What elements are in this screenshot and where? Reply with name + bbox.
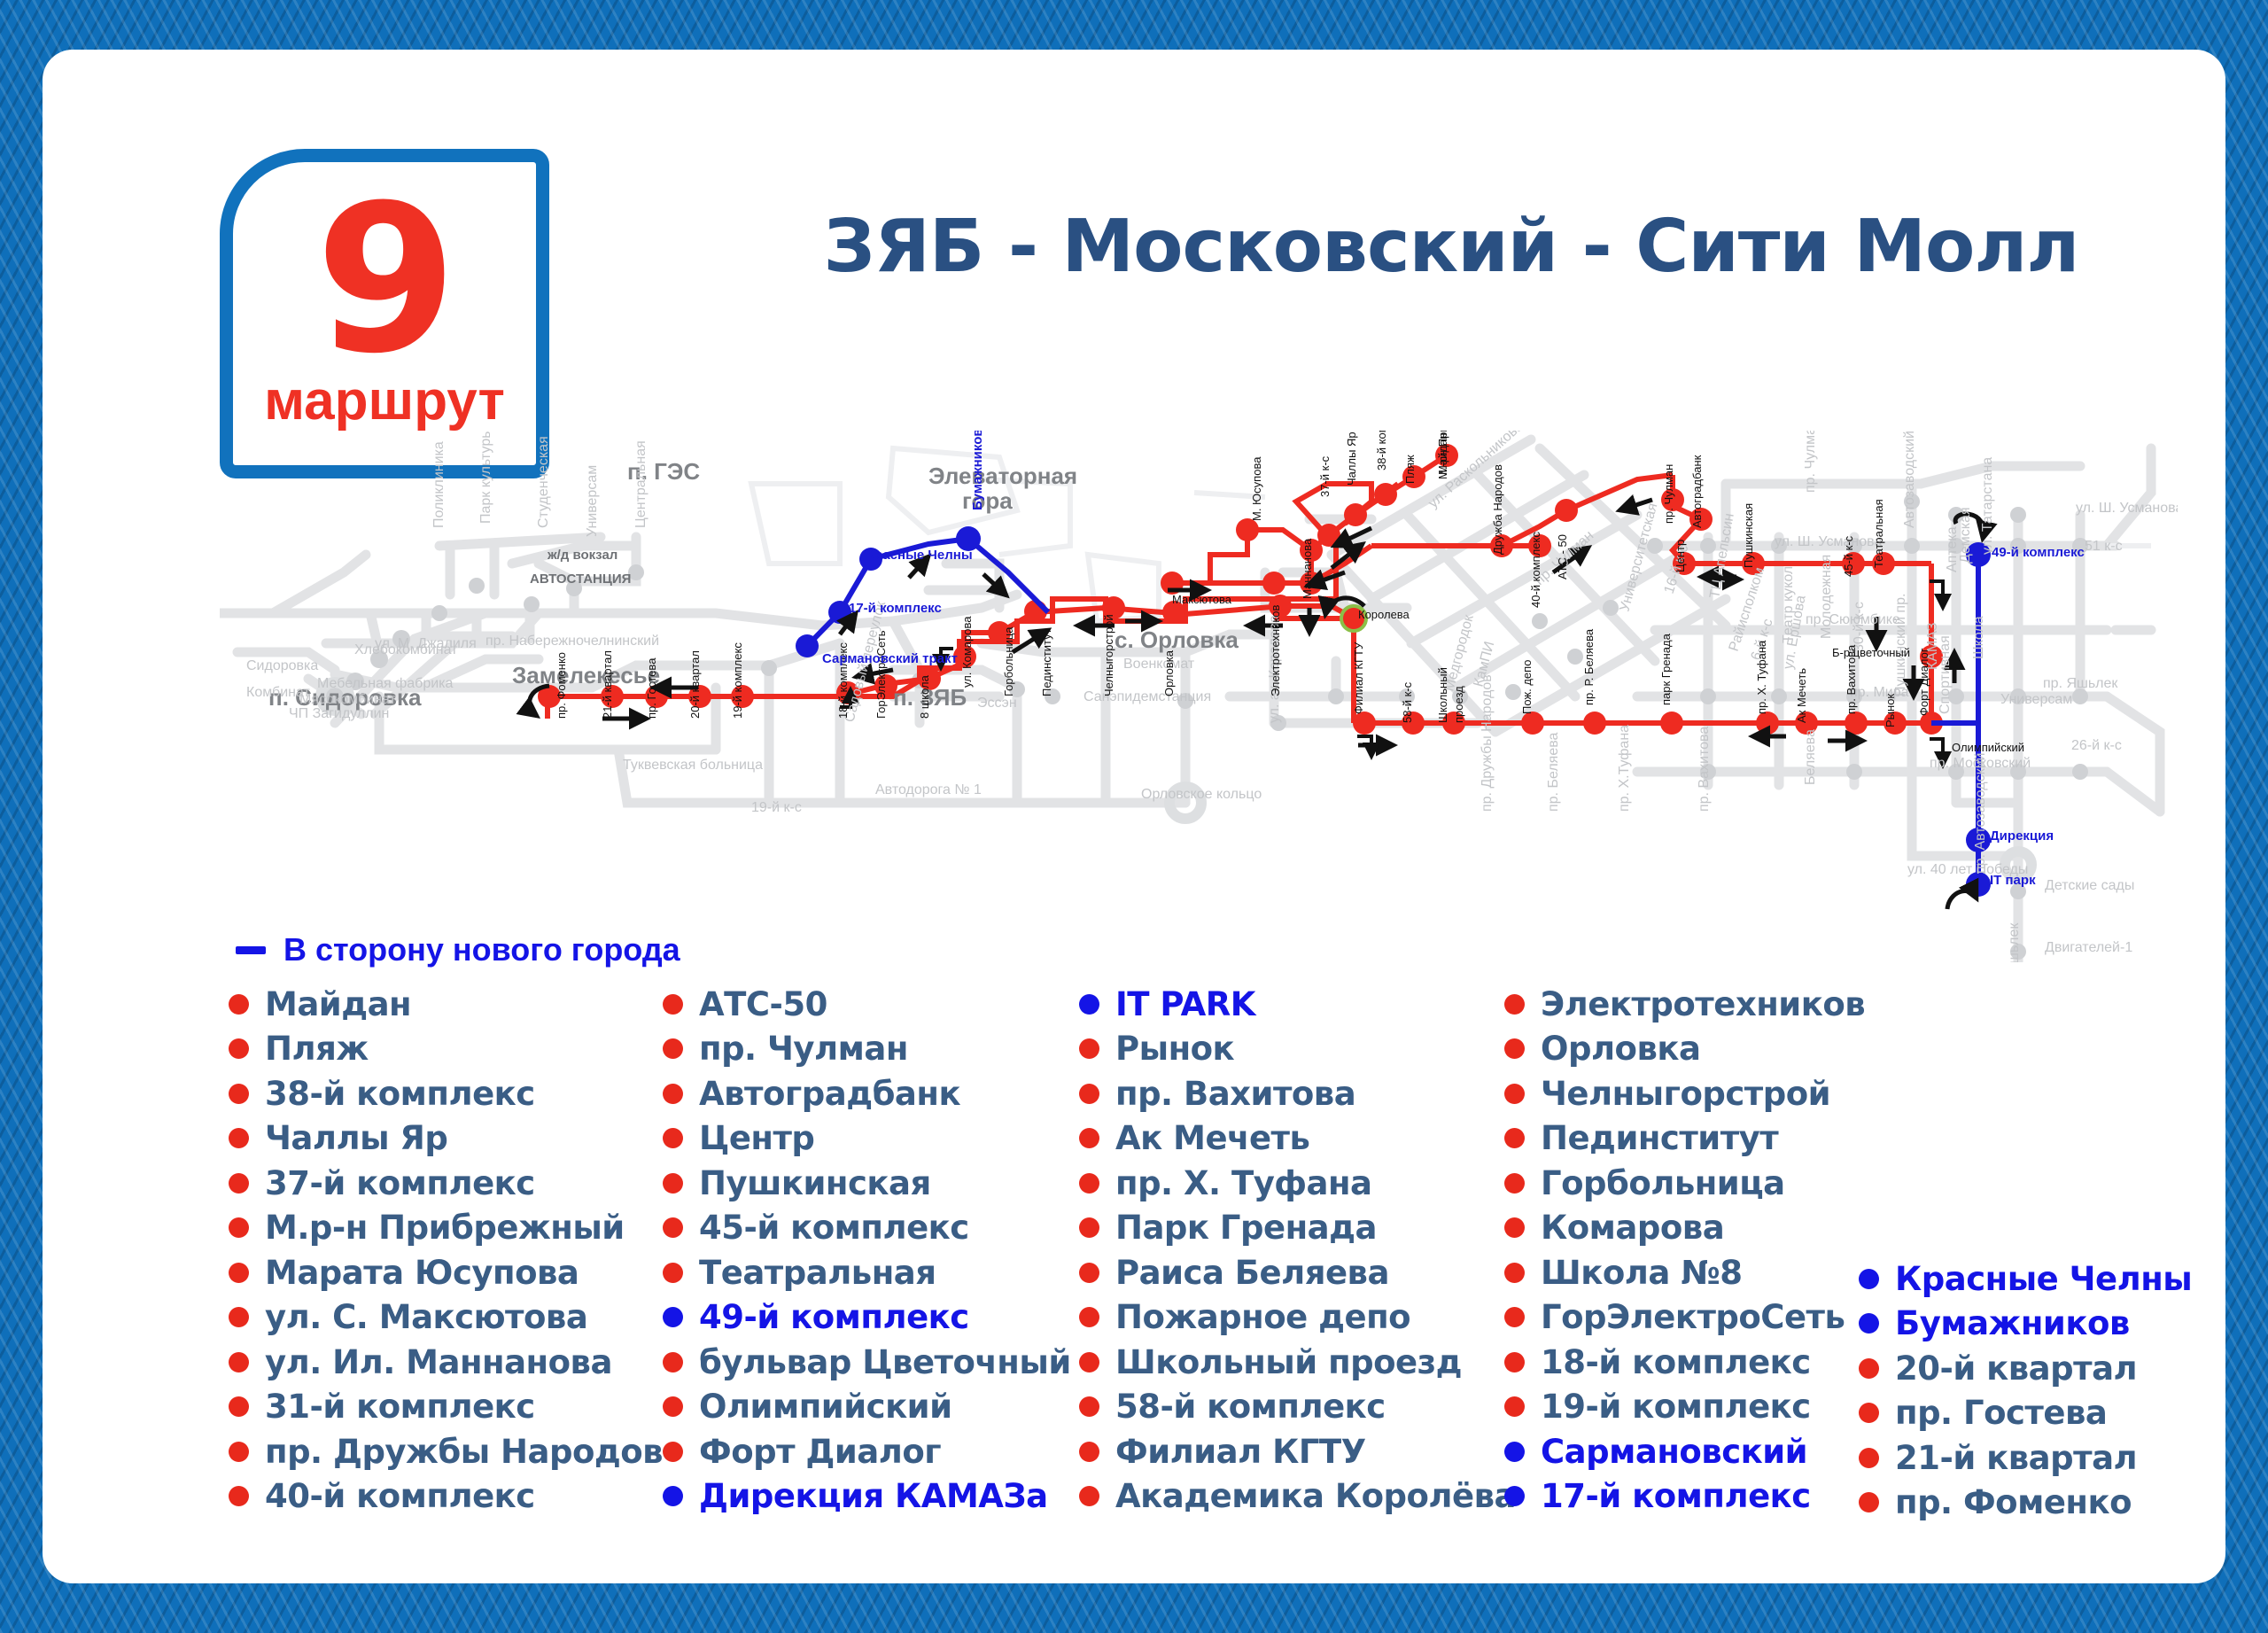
stop-dot-icon <box>663 1486 683 1506</box>
grey_labels: Молодежная <box>1819 555 1834 639</box>
stop-label: Школьный проезд <box>1115 1343 1462 1381</box>
list-item[interactable]: АТС-50 <box>663 982 1079 1027</box>
stop-column-2: АТС-50пр. ЧулманАвтоградбанкЦентрПушкинс… <box>663 982 1079 1525</box>
grey_labels: Пушкинский пр. <box>1893 594 1908 696</box>
grey_labels: пр. Яшьлек <box>2043 676 2118 691</box>
red_stops: 38-й комплекс <box>1375 431 1388 470</box>
list-item[interactable]: Бумажников <box>1859 1302 2204 1347</box>
list-item[interactable]: пр. Гостева <box>1859 1391 2204 1436</box>
route-number: 9 <box>315 195 454 366</box>
stop-dot-icon <box>229 1173 249 1194</box>
map-labels: п. ГЭСп. СидоровкаЗамелекесьеп. ЗЯБЭлева… <box>246 431 2178 962</box>
stop-label: Академика Королёва <box>1115 1477 1516 1515</box>
list-item[interactable]: пр. Фоменко <box>1859 1481 2204 1526</box>
grey_labels: Сидоровка <box>246 658 318 673</box>
list-item[interactable]: Филиал КГТУ <box>1079 1429 1504 1474</box>
grey_labels: Орловское кольцо <box>1141 787 1262 802</box>
list-item[interactable]: Комарова <box>1504 1206 1859 1251</box>
stop-column-4: ЭлектротехниковОрловкаЧелныгорстройПедин… <box>1504 982 1859 1525</box>
list-item[interactable]: Майдан <box>229 982 663 1027</box>
stop-dot-icon <box>229 1352 249 1372</box>
red_stops: пр. Р. Беляева <box>1582 628 1596 705</box>
grey_labels: Эссэн <box>977 696 1017 711</box>
grey_labels: Центральная <box>633 440 649 528</box>
stop-dot-icon <box>1504 1352 1525 1372</box>
grey_labels: ул. Татарстана <box>1980 457 1995 555</box>
red_stops: Чаллы Яр <box>1345 432 1358 486</box>
list-item[interactable]: Электротехников <box>1504 982 1859 1027</box>
grey_labels: Туквевская больница <box>623 758 763 773</box>
stop-label: Школа №8 <box>1541 1254 1742 1292</box>
grey_labels: Автозаводский пр. <box>1902 431 1917 528</box>
list-item[interactable]: Горбольница <box>1504 1161 1859 1206</box>
list-item[interactable]: 31-й комплекс <box>229 1385 663 1430</box>
red_stops: Орловка <box>1162 649 1176 696</box>
stop-dot-icon <box>229 1128 249 1148</box>
stop-label: Ак Мечеть <box>1115 1119 1309 1157</box>
red_stops: ул. Комарова <box>960 616 974 688</box>
red_stops: Маннанова <box>1301 538 1314 599</box>
grey_labels: Мясокомбинат <box>299 692 396 707</box>
stop-dot-icon <box>1504 1128 1525 1148</box>
route-map: п. ГЭСп. СидоровкаЗамелекесьеп. ЗЯБЭлева… <box>220 431 2178 962</box>
stop-label: Пляж <box>265 1030 369 1068</box>
stop-label: 17-й комплекс <box>1541 1477 1811 1515</box>
list-item[interactable]: пр. Вахитова <box>1079 1071 1504 1116</box>
grey_labels: Студенческая <box>536 436 551 528</box>
red_stops: 21-й квартал <box>601 650 614 719</box>
red_stops: Максютова <box>1172 593 1232 606</box>
stop-label: Пушкинская <box>699 1164 931 1202</box>
stop-dot-icon <box>1079 1442 1099 1462</box>
stop-label: бульвар Цветочный <box>699 1343 1071 1381</box>
grey_labels: Хлебокомбинат <box>354 642 458 657</box>
grey_labels: ул. Ш. Усманова <box>2076 501 2178 516</box>
grey_labels: пр. Набережночелнинский <box>485 634 659 649</box>
list-item[interactable]: М.р-н Прибрежный <box>229 1206 663 1251</box>
stop-label: 19-й комплекс <box>1541 1388 1811 1426</box>
stop-dot-icon <box>663 1352 683 1372</box>
list-item[interactable]: пр. Чулман <box>663 1027 1079 1072</box>
stop-label: 45-й комплекс <box>699 1209 969 1247</box>
stop-label: ул. С. Максютова <box>265 1298 587 1336</box>
stop-label: Майдан <box>265 985 411 1023</box>
list-item[interactable]: Пляж <box>229 1027 663 1072</box>
blue_stops: IT парк <box>1990 873 2036 888</box>
list-item[interactable]: 58-й комплекс <box>1079 1385 1504 1430</box>
stop-label: IT PARK <box>1115 985 1255 1023</box>
red_stops: пр. Фоменко <box>555 652 568 719</box>
stop-list: МайданПляж38-й комплексЧаллы Яр37-й комп… <box>229 982 2204 1525</box>
grey_labels: ж/д вокзал <box>547 548 617 563</box>
grey_labels: пр. Вахитова <box>1697 727 1712 812</box>
stop-dot-icon <box>1859 1269 1879 1289</box>
list-item[interactable]: 49-й комплекс <box>663 1295 1079 1341</box>
list-item[interactable]: пр. Дружбы Народов <box>229 1429 663 1474</box>
red_stops: М.-рн Прибрежный <box>1436 431 1449 479</box>
red_stops: Пединститут <box>1040 628 1053 696</box>
list-item[interactable]: 21-й квартал <box>1859 1435 2204 1481</box>
list-item[interactable]: Академика Королёва <box>1079 1474 1504 1520</box>
grey_labels: Универсам <box>2000 692 2072 707</box>
blue_stops: Сармановский тракт <box>822 651 958 666</box>
stop-dot-icon <box>663 1084 683 1104</box>
stop-dot-icon <box>1079 994 1099 1015</box>
grey_labels: Театр кукол <box>1781 566 1796 643</box>
district_labels: Замелекесье <box>512 662 660 688</box>
grey_labels: 26-й к-с <box>2071 738 2122 753</box>
red_stops: Королева <box>1358 608 1410 621</box>
red_stops: Электротехников <box>1269 605 1282 696</box>
stop-label: 37-й комплекс <box>265 1164 535 1202</box>
grey_labels: пр. Чулман <box>1803 431 1818 493</box>
red_stops: парк Гренада <box>1659 633 1673 705</box>
stop-label: Электротехников <box>1541 985 1865 1023</box>
stop-label: Раиса Беляева <box>1115 1254 1389 1292</box>
list-item[interactable]: 37-й комплекс <box>229 1161 663 1206</box>
red_stops: Филиал КГТУ <box>1352 642 1365 714</box>
grey_labels: пр. Автозаводский <box>1973 753 1988 874</box>
grey_labels: Мебельная фабрика <box>317 676 454 691</box>
red_stops: Горбольница <box>1002 626 1015 696</box>
stop-dot-icon <box>1859 1403 1879 1423</box>
red_stops: 8 школа <box>918 674 931 719</box>
stop-dot-icon <box>1079 1173 1099 1194</box>
list-item[interactable]: Олимпийский <box>663 1385 1079 1430</box>
list-item[interactable]: бульвар Цветочный <box>663 1340 1079 1385</box>
stop-label: пр. Фоменко <box>1895 1483 2132 1521</box>
red_stops: 19-й комплекс <box>731 642 744 719</box>
grey_labels: пр. Яшьлек <box>2007 922 2022 962</box>
stop-label: Горбольница <box>1541 1164 1785 1202</box>
red_stops: М. Юсупова <box>1250 456 1263 521</box>
list-item[interactable]: Дирекция КАМАЗа <box>663 1474 1079 1520</box>
stop-dot-icon <box>1504 1442 1525 1462</box>
stop-dot-icon <box>1079 1084 1099 1104</box>
red_stops: пр. Гостева <box>645 657 658 719</box>
grey_labels: Школа <box>1971 616 1986 659</box>
stop-dot-icon <box>663 1217 683 1238</box>
list-item[interactable]: Автоградбанк <box>663 1071 1079 1116</box>
list-item[interactable]: 18-й комплекс <box>1504 1340 1859 1385</box>
stop-dot-icon <box>663 1038 683 1059</box>
red_stops: Школьный <box>1436 667 1449 723</box>
list-item[interactable]: Пожарное депо <box>1079 1295 1504 1341</box>
blue-dash-icon <box>236 946 266 954</box>
blue_stops: Бумажников <box>970 431 985 510</box>
legend-direction: В сторону нового города <box>236 931 680 968</box>
grey_labels: Детские сады <box>2045 878 2134 893</box>
stop-dot-icon <box>663 1442 683 1462</box>
stop-label: Пожарное депо <box>1115 1298 1410 1336</box>
red_stops: Олимпийский <box>1952 741 2024 754</box>
grey_labels: Военкомат <box>1123 657 1195 672</box>
grey_labels: пр. Беляева <box>1546 732 1561 812</box>
list-item[interactable]: ГорЭлектроСеть <box>1504 1295 1859 1341</box>
stop-label: Чаллы Яр <box>265 1119 447 1157</box>
stop-dot-icon <box>1504 1084 1525 1104</box>
stop-label: Орловка <box>1541 1030 1700 1068</box>
district_labels: с. Орловка <box>1115 626 1239 653</box>
stop-column-3: IT PARKРынокпр. ВахитоваАк Мечетьпр. Х. … <box>1079 982 1504 1525</box>
grey_labels: пр. Дружбы Народов <box>1480 674 1495 812</box>
list-item[interactable]: Сармановский <box>1504 1429 1859 1474</box>
list-item[interactable]: Форт Диалог <box>663 1429 1079 1474</box>
stop-dot-icon <box>663 1307 683 1327</box>
stop-label: пр. Гостева <box>1895 1394 2107 1432</box>
red_stops: 45-й к-с <box>1842 535 1855 577</box>
list-item[interactable]: Театральная <box>663 1250 1079 1295</box>
stop-dot-icon <box>1504 1396 1525 1417</box>
stop-dot-icon <box>229 1486 249 1506</box>
stop-column-5: Красные ЧелныБумажников20-й кварталпр. Г… <box>1859 982 2204 1525</box>
stop-dot-icon <box>229 1263 249 1283</box>
grey_labels: Беляева <box>1803 729 1818 785</box>
grey_labels: Парк культуры <box>478 431 493 524</box>
list-item[interactable]: Красные Челны <box>1859 1256 2204 1302</box>
stop-dot-icon <box>663 1128 683 1148</box>
stop-label: пр. Чулман <box>699 1030 908 1068</box>
list-item[interactable]: Раиса Беляева <box>1079 1250 1504 1295</box>
stop-label: Красные Челны <box>1895 1260 2192 1298</box>
stop-column-1: МайданПляж38-й комплексЧаллы Яр37-й комп… <box>229 982 663 1525</box>
red_stops: пр. Х. Туфана <box>1755 640 1768 714</box>
red_stops: 20-й квартал <box>688 650 702 719</box>
stop-dot-icon <box>1504 1307 1525 1327</box>
list-item[interactable]: ул. С. Максютова <box>229 1295 663 1341</box>
stop-label: 40-й комплекс <box>265 1477 535 1515</box>
red_stops: Центр <box>1674 540 1687 572</box>
stop-label: пр. Дружбы Народов <box>265 1433 663 1471</box>
page-title: ЗЯБ - Московский - Сити Молл <box>698 205 2204 289</box>
list-item[interactable]: Парк Гренада <box>1079 1206 1504 1251</box>
poster-card: 9 маршрут ЗЯБ - Московский - Сити Молл <box>43 50 2225 1583</box>
grey_labels: Автодорога № 1 <box>875 782 982 797</box>
stop-dot-icon <box>1079 1038 1099 1059</box>
stop-dot-icon <box>229 1396 249 1417</box>
stop-dot-icon <box>1504 1217 1525 1238</box>
stop-dot-icon <box>1504 1038 1525 1059</box>
stop-dot-icon <box>1504 994 1525 1015</box>
red_stops: Дружба Народов <box>1491 464 1504 555</box>
stop-dot-icon <box>663 1263 683 1283</box>
stop-label: 58-й комплекс <box>1115 1388 1386 1426</box>
red_stops: Пушкинская <box>1742 503 1755 568</box>
route-word: маршрут <box>264 369 505 432</box>
red_stops: Пляж <box>1403 455 1417 484</box>
stop-dot-icon <box>1859 1358 1879 1379</box>
stop-label: Центр <box>699 1119 814 1157</box>
stop-label: АТС-50 <box>699 985 827 1023</box>
legend-direction-label: В сторону нового города <box>283 931 680 968</box>
list-item[interactable]: ул. Ил. Маннанова <box>229 1340 663 1385</box>
red_stops: ГорЭлектроСеть <box>874 630 888 719</box>
stop-label: Филиал КГТУ <box>1115 1433 1366 1471</box>
stop-label: Бумажников <box>1895 1304 2130 1342</box>
list-item[interactable]: Чаллы Яр <box>229 1116 663 1162</box>
grey_labels: Двигателей-1 <box>2045 940 2132 955</box>
red_stops: Челныгорстрой <box>1102 614 1115 696</box>
grey_labels: 19-й к-с <box>751 800 802 815</box>
list-item[interactable]: пр. Х. Туфана <box>1079 1161 1504 1206</box>
blue_stops: Дирекция <box>1990 828 2054 844</box>
blue_stops: 17-й комплекс <box>849 601 942 616</box>
red_stops: Рынок <box>1884 694 1897 727</box>
stop-label: Парк Гренада <box>1115 1209 1377 1247</box>
list-item[interactable]: Пединститут <box>1504 1116 1859 1162</box>
stop-dot-icon <box>229 994 249 1015</box>
stop-dot-icon <box>663 994 683 1015</box>
stop-label: Автоградбанк <box>699 1075 960 1113</box>
stop-label: 18-й комплекс <box>1541 1343 1811 1381</box>
grey_labels: Спортивная <box>1938 635 1953 714</box>
stop-dot-icon <box>1504 1486 1525 1506</box>
list-item[interactable]: Центр <box>663 1116 1079 1162</box>
blue_stops: 49-й комплекс <box>1992 545 2085 560</box>
stop-dot-icon <box>1859 1448 1879 1468</box>
stop-dot-icon <box>1504 1173 1525 1194</box>
stop-label: Пединститут <box>1541 1119 1778 1157</box>
stop-label: 49-й комплекс <box>699 1298 969 1336</box>
stop-label: ул. Ил. Маннанова <box>265 1343 612 1381</box>
stop-label: Рынок <box>1115 1030 1234 1068</box>
grey_labels: Универсам <box>585 465 600 537</box>
stop-label: 31-й комплекс <box>265 1388 535 1426</box>
stop-label: 38-й комплекс <box>265 1075 535 1113</box>
stop-label: Олимпийский <box>699 1388 952 1426</box>
stop-label: Марата Юсупова <box>265 1254 579 1292</box>
stop-dot-icon <box>1079 1128 1099 1148</box>
stop-dot-icon <box>229 1307 249 1327</box>
list-item[interactable]: Орловка <box>1504 1027 1859 1072</box>
grey_labels: Комбинат <box>246 685 311 700</box>
stop-dot-icon <box>1859 1492 1879 1512</box>
grey_labels: Демская <box>1958 507 1973 564</box>
route-badge: 9 маршрут <box>220 149 549 478</box>
red_stops: Пож. депо <box>1520 660 1534 714</box>
grey_labels: АВТОСТАНЦИЯ <box>530 572 631 587</box>
red_stops: Автоградбанк <box>1690 455 1704 528</box>
stop-label: Сармановский <box>1541 1433 1807 1471</box>
grey_labels: ул. Ш. Усманова <box>1775 534 1882 549</box>
list-item[interactable]: 17-й комплекс <box>1504 1474 1859 1520</box>
list-item[interactable]: 45-й комплекс <box>663 1206 1079 1251</box>
stop-dot-icon <box>229 1038 249 1059</box>
stop-label: пр. Вахитова <box>1115 1075 1355 1113</box>
stop-label: 20-й квартал <box>1895 1349 2137 1388</box>
stop-label: 21-й квартал <box>1895 1439 2137 1477</box>
list-item[interactable]: Челныгорстрой <box>1504 1071 1859 1116</box>
grey_labels: 51 к-с <box>2085 539 2123 554</box>
red_stops: 40-й комплекс <box>1529 532 1542 608</box>
stop-label: Дирекция КАМАЗа <box>699 1477 1048 1515</box>
stop-dot-icon <box>663 1173 683 1194</box>
red_stops: проезд <box>1452 686 1465 723</box>
blue_stops: Красные Челны <box>866 548 973 563</box>
stop-dot-icon <box>1079 1263 1099 1283</box>
stop-dot-icon <box>1079 1486 1099 1506</box>
list-item[interactable]: Школьный проезд <box>1079 1340 1504 1385</box>
list-item[interactable]: 19-й комплекс <box>1504 1385 1859 1430</box>
stop-dot-icon <box>663 1396 683 1417</box>
district_labels: Элеваторная <box>928 463 1077 489</box>
stop-label: пр. Х. Туфана <box>1115 1164 1372 1202</box>
stop-dot-icon <box>1079 1217 1099 1238</box>
red_stops: 37-й к-с <box>1318 455 1332 497</box>
stop-dot-icon <box>229 1217 249 1238</box>
stop-dot-icon <box>229 1084 249 1104</box>
stop-label: Форт Диалог <box>699 1433 941 1471</box>
list-item[interactable]: 20-й квартал <box>1859 1346 2204 1391</box>
stop-dot-icon <box>1079 1396 1099 1417</box>
list-item[interactable]: IT PARK <box>1079 982 1504 1027</box>
list-item[interactable]: Ак Мечеть <box>1079 1116 1504 1162</box>
red_stops: АТС - 50 <box>1556 534 1569 579</box>
red_stops: Б-р цветочный <box>1832 646 1910 659</box>
red_stops: Ак Мечеть <box>1795 668 1808 723</box>
stop-label: Театральная <box>699 1254 936 1292</box>
stop-dot-icon <box>1504 1263 1525 1283</box>
grey_labels: Поликлиника <box>431 441 447 528</box>
red_stops: пр. Чулман <box>1662 464 1675 524</box>
grey_labels: пр. Х.Туфана <box>1617 725 1632 812</box>
red_stops: Форт Диалог <box>1917 648 1930 716</box>
list-item[interactable]: Школа №8 <box>1504 1250 1859 1295</box>
red_stops: Театральная <box>1872 499 1885 568</box>
stop-label: Комарова <box>1541 1209 1724 1247</box>
list-item[interactable]: Пушкинская <box>663 1161 1079 1206</box>
stop-dot-icon <box>1079 1352 1099 1372</box>
list-item[interactable]: Марата Юсупова <box>229 1250 663 1295</box>
grey_labels: ЧП Загидуллин <box>289 706 389 721</box>
list-item[interactable]: Рынок <box>1079 1027 1504 1072</box>
stop-label: М.р-н Прибрежный <box>265 1209 625 1247</box>
stop-dot-icon <box>229 1442 249 1462</box>
stop-label: ГорЭлектроСеть <box>1541 1298 1845 1336</box>
stop-dot-icon <box>1859 1313 1879 1334</box>
list-item[interactable]: 38-й комплекс <box>229 1071 663 1116</box>
grey_labels: 30-й к-с <box>1852 602 1867 652</box>
red_stops: 58-й к-с <box>1401 681 1414 723</box>
stop-dot-icon <box>1079 1307 1099 1327</box>
stop-label: Челныгорстрой <box>1541 1075 1830 1113</box>
list-item[interactable]: 40-й комплекс <box>229 1474 663 1520</box>
